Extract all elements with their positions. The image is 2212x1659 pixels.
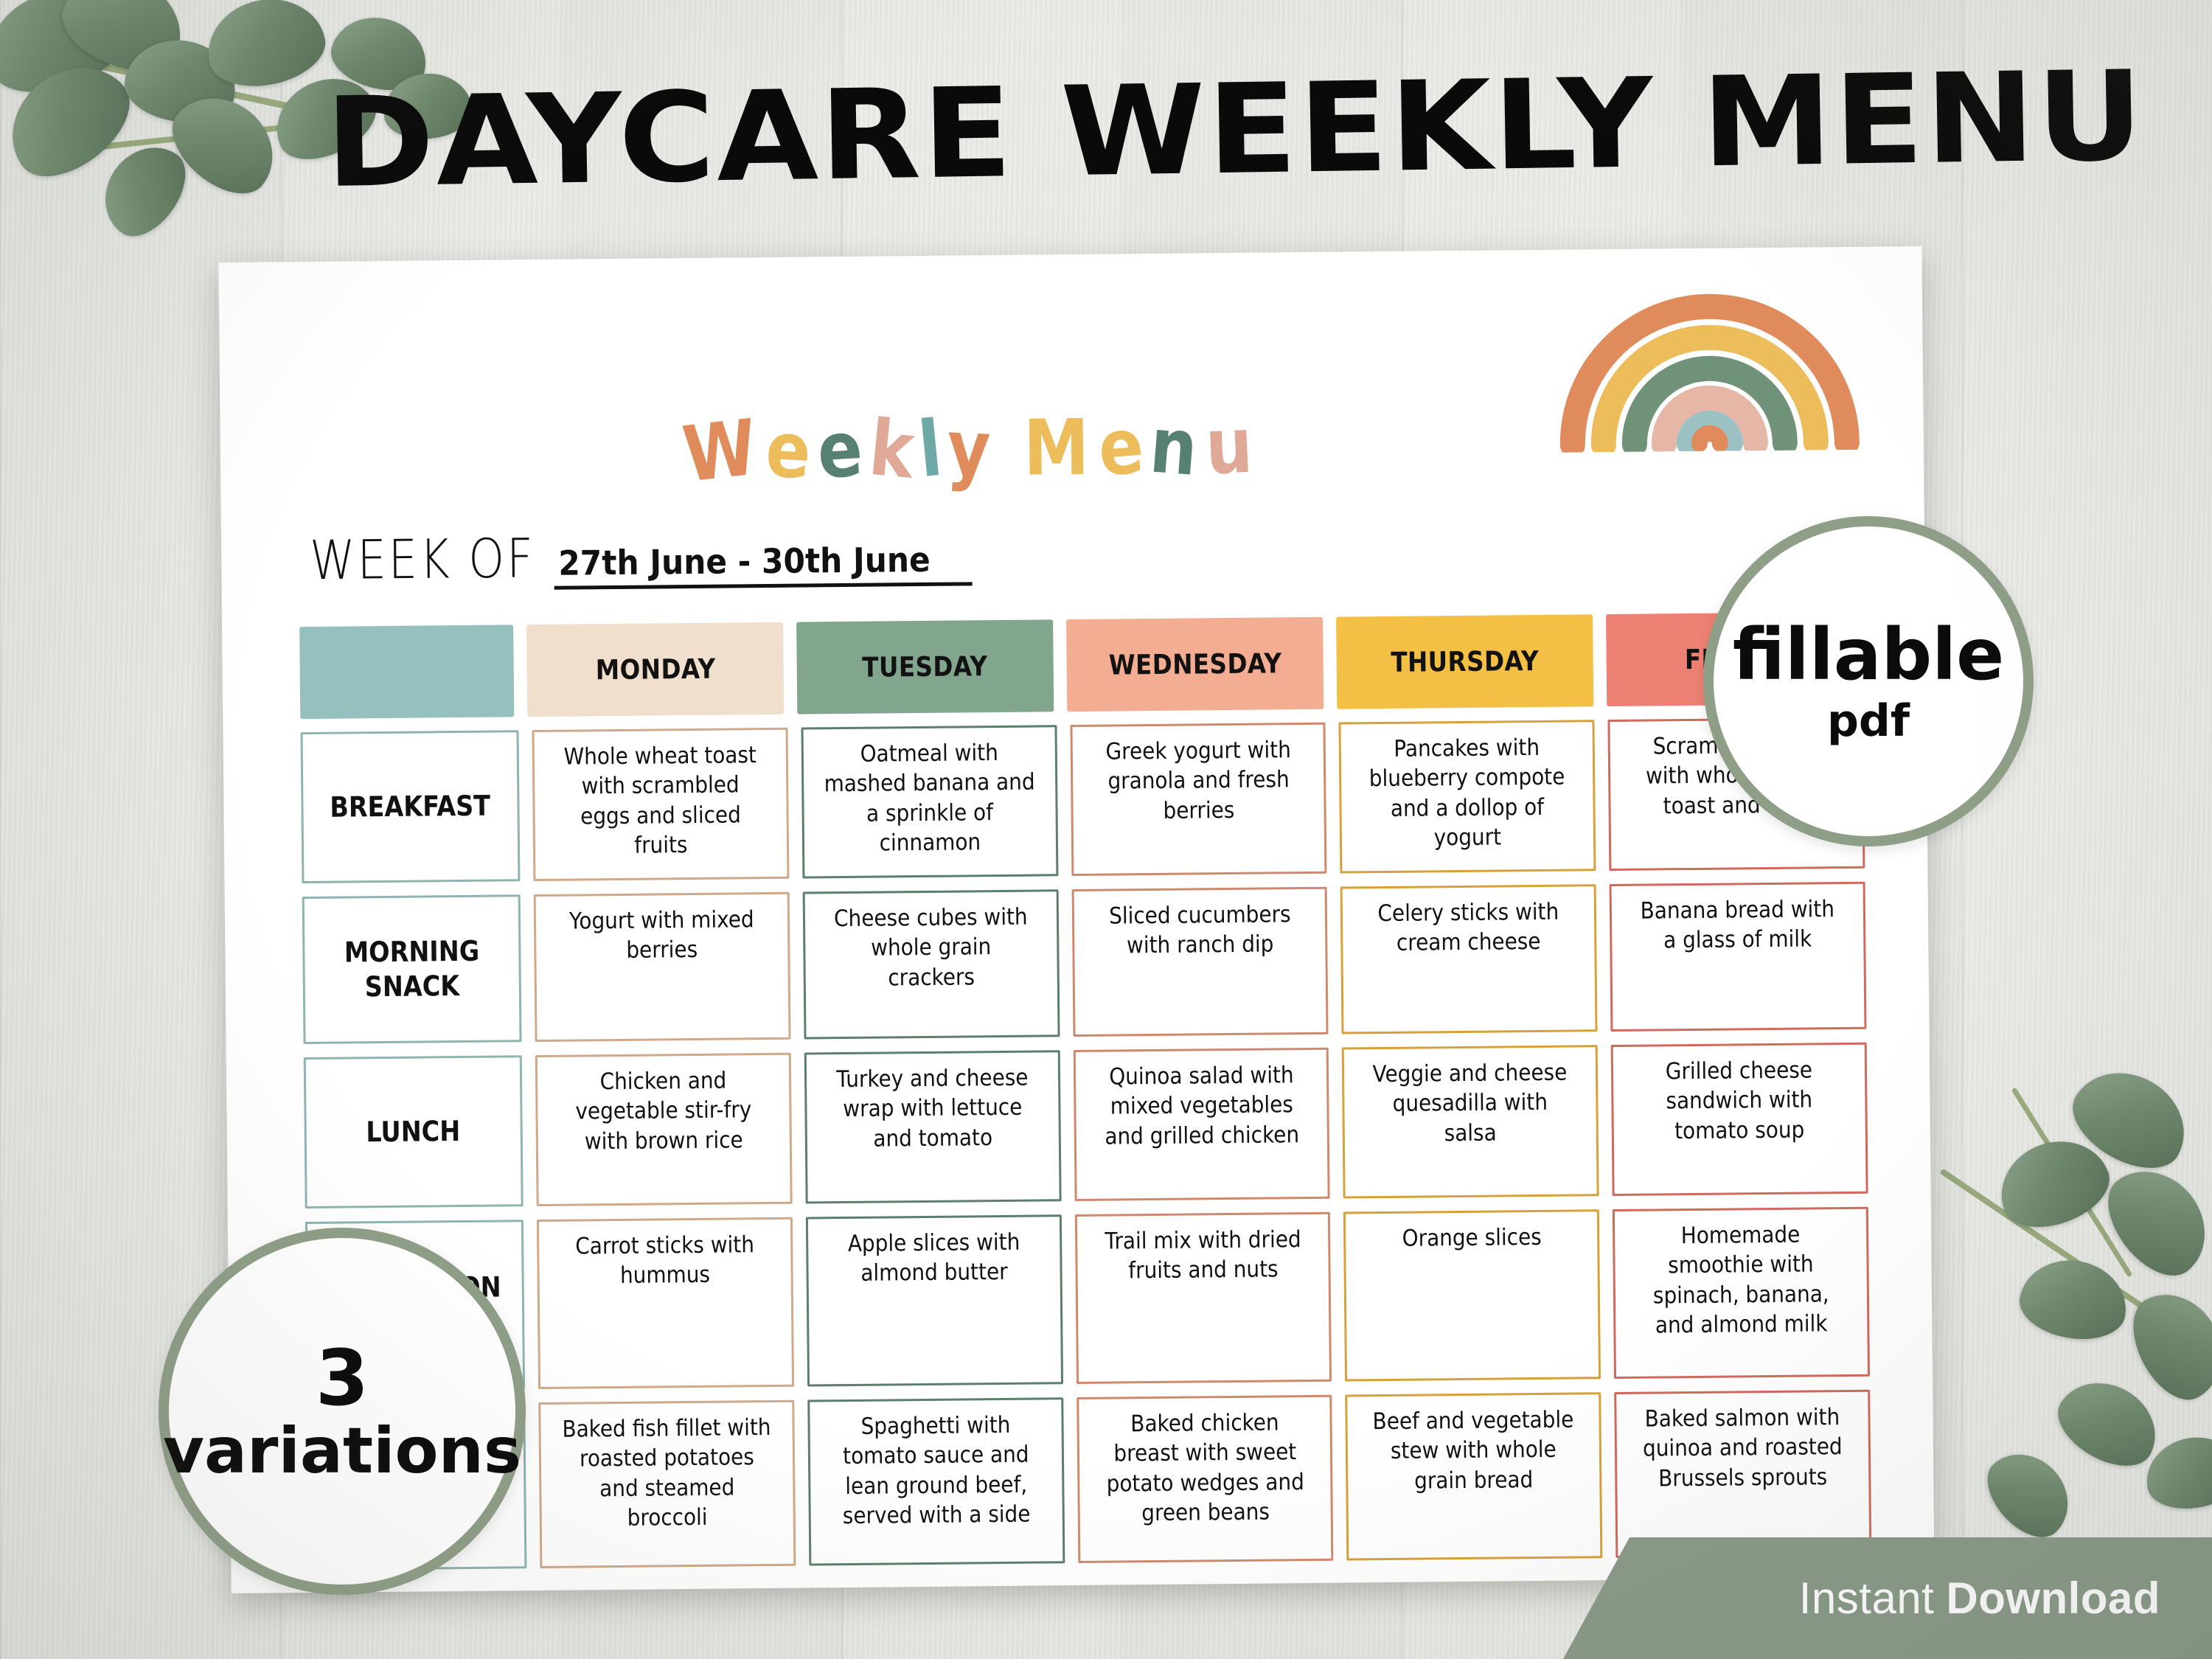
variations-badge: 3 variations: [159, 1228, 526, 1595]
page-title: DAYCARE WEEKLY MENU: [324, 56, 2030, 205]
menu-cell[interactable]: Whole wheat toast with scrambled eggs an…: [532, 728, 789, 881]
meal-label: MORNINGSNACK: [344, 933, 479, 1005]
meal-label-cell: BREAKFAST: [301, 730, 521, 883]
menu-cell-text: Cheese cubes with whole grain crackers: [824, 902, 1038, 994]
table-row: AFTERNOONSNACKCarrot sticks with hummusA…: [305, 1207, 1870, 1391]
menu-cell-text: Grilled cheese sandwich with tomato soup: [1632, 1055, 1846, 1147]
weekly-title-letter: e: [763, 411, 813, 490]
menu-cell-text: Oatmeal with mashed banana and a sprinkl…: [822, 738, 1036, 859]
weekly-title-letter: l: [915, 410, 945, 488]
day-header-label: TUESDAY: [862, 650, 988, 684]
menu-cell-text: Orange slices: [1402, 1222, 1541, 1253]
menu-cell[interactable]: Spaghetti with tomato sauce and lean gro…: [807, 1397, 1065, 1565]
week-of-field[interactable]: 27th June - 30th June: [554, 539, 973, 589]
menu-cell[interactable]: Celery sticks with cream cheese: [1340, 884, 1598, 1034]
weekly-menu-title: Weekly Menu: [677, 408, 1256, 490]
menu-cell[interactable]: Beef and vegetable stew with whole grain…: [1346, 1392, 1603, 1560]
menu-cell[interactable]: Orange slices: [1343, 1209, 1601, 1381]
menu-table: MONDAYTUESDAYWEDNESDAYTHURSDAYFRIDAYBREA…: [299, 612, 1871, 1584]
menu-cell-text: Trail mix with dried fruits and nuts: [1096, 1225, 1310, 1286]
menu-cell[interactable]: Grilled cheese sandwich with tomato soup: [1611, 1043, 1868, 1196]
meal-label-cell: MORNINGSNACK: [302, 894, 522, 1044]
menu-cell-text: Beef and vegetable stew with whole grain…: [1367, 1405, 1581, 1496]
day-header-thursday: THURSDAY: [1336, 614, 1593, 709]
menu-cell[interactable]: Carrot sticks with hummus: [537, 1217, 794, 1389]
menu-cell-text: Apple slices with almond butter: [827, 1227, 1040, 1288]
meal-label-cell: LUNCH: [304, 1055, 524, 1208]
menu-cell-text: Pancakes with blueberry compote and a do…: [1360, 733, 1574, 854]
menu-cell-text: Turkey and cheese wrap with lettuce and …: [826, 1063, 1040, 1155]
menu-cell[interactable]: Baked salmon with quinoa and roasted Bru…: [1614, 1390, 1871, 1558]
day-header-label: THURSDAY: [1391, 645, 1539, 678]
menu-cell-text: Sliced cucumbers with ranch dip: [1093, 900, 1306, 961]
menu-cell-text: Banana bread with a glass of milk: [1631, 894, 1844, 956]
menu-cell-text: Spaghetti with tomato sauce and lean gro…: [829, 1410, 1043, 1531]
meal-label: BREAKFAST: [330, 788, 490, 825]
menu-cell-text: Celery sticks with cream cheese: [1362, 897, 1575, 959]
menu-cell[interactable]: Quinoa salad with mixed vegetables and g…: [1073, 1048, 1330, 1201]
table-row: BREAKFASTWhole wheat toast with scramble…: [301, 717, 1865, 883]
weekly-title-letter: M: [1023, 409, 1090, 487]
day-header-monday: MONDAY: [526, 622, 784, 717]
week-of-label: WEEK OF: [310, 526, 535, 592]
ribbon-text-bold: Download: [1946, 1573, 2160, 1624]
weekly-title-letter: k: [866, 409, 917, 490]
table-corner-cell: [299, 625, 514, 719]
menu-cell[interactable]: Apple slices with almond butter: [806, 1214, 1063, 1386]
day-header-wednesday: WEDNESDAY: [1066, 617, 1324, 712]
instant-download-ribbon: Instant Download: [1563, 1537, 2212, 1659]
menu-cell[interactable]: Yogurt with mixed berries: [534, 892, 791, 1042]
menu-cell[interactable]: Banana bread with a glass of milk: [1610, 882, 1867, 1032]
menu-cell-text: Baked salmon with quinoa and roasted Bru…: [1636, 1402, 1850, 1494]
weekly-title-letter: u: [1203, 407, 1253, 486]
ribbon-text-light: Instant: [1799, 1573, 1935, 1624]
week-of-row: WEEK OF 27th June - 30th June: [310, 532, 972, 592]
rainbow-icon: [1553, 246, 1865, 453]
menu-cell-text: Quinoa salad with mixed vegetables and g…: [1094, 1060, 1308, 1152]
menu-cell[interactable]: Veggie and cheese quesadilla with salsa: [1342, 1045, 1599, 1198]
weekly-title-letter: e: [815, 410, 865, 490]
fillable-badge-line1: fillable: [1733, 619, 2004, 690]
day-header-label: MONDAY: [595, 653, 715, 686]
day-header-tuesday: TUESDAY: [796, 619, 1054, 714]
menu-cell[interactable]: Pancakes with blueberry compote and a do…: [1339, 720, 1596, 873]
weekly-title-letter: n: [1148, 406, 1201, 487]
weekly-title-letter: [993, 410, 1019, 487]
menu-cell-text: Baked chicken breast with sweet potato w…: [1098, 1408, 1312, 1528]
menu-cell[interactable]: Baked chicken breast with sweet potato w…: [1077, 1395, 1334, 1563]
week-of-value: 27th June - 30th June: [559, 540, 931, 583]
menu-cell[interactable]: Greek yogurt with granola and fresh berr…: [1070, 723, 1327, 876]
menu-cell[interactable]: Trail mix with dried fruits and nuts: [1074, 1212, 1332, 1384]
variations-badge-label: variations: [163, 1419, 521, 1483]
menu-cell[interactable]: Chicken and vegetable stir-fry with brow…: [535, 1053, 793, 1206]
menu-cell[interactable]: Oatmeal with mashed banana and a sprinkl…: [801, 725, 1058, 878]
meal-label: LUNCH: [366, 1114, 461, 1150]
weekly-title-letter: y: [945, 409, 992, 487]
table-row: MORNINGSNACKYogurt with mixed berriesChe…: [302, 882, 1867, 1044]
menu-cell-text: Homemade smoothie with spinach, banana, …: [1634, 1220, 1848, 1340]
menu-cell-text: Baked fish fillet with roasted potatoes …: [560, 1413, 773, 1534]
menu-cell-text: Whole wheat toast with scrambled eggs an…: [554, 740, 768, 861]
table-header-row: MONDAYTUESDAYWEDNESDAYTHURSDAYFRIDAY: [299, 612, 1863, 719]
menu-cell[interactable]: Cheese cubes with whole grain crackers: [802, 889, 1060, 1039]
day-header-label: WEDNESDAY: [1108, 647, 1281, 681]
menu-cell[interactable]: Homemade smoothie with spinach, banana, …: [1613, 1207, 1870, 1379]
menu-cell[interactable]: Baked fish fillet with roasted potatoes …: [538, 1400, 796, 1568]
variations-badge-count: 3: [316, 1340, 369, 1416]
menu-cell-text: Yogurt with mixed berries: [555, 905, 768, 966]
weekly-title-letter: e: [1096, 407, 1147, 487]
menu-cell-text: Chicken and vegetable stir-fry with brow…: [557, 1065, 771, 1157]
menu-cell-text: Carrot sticks with hummus: [558, 1230, 771, 1291]
menu-cell[interactable]: Sliced cucumbers with ranch dip: [1071, 887, 1329, 1037]
menu-cell[interactable]: Turkey and cheese wrap with lettuce and …: [804, 1050, 1062, 1203]
menu-cell-text: Veggie and cheese quesadilla with salsa: [1363, 1058, 1577, 1150]
menu-cell-text: Greek yogurt with granola and fresh berr…: [1091, 735, 1305, 827]
fillable-pdf-badge: fillable pdf: [1703, 516, 2034, 846]
table-row: LUNCHChicken and vegetable stir-fry with…: [304, 1043, 1868, 1208]
fillable-badge-line2: pdf: [1827, 699, 1910, 743]
weekly-title-letter: W: [679, 408, 760, 493]
